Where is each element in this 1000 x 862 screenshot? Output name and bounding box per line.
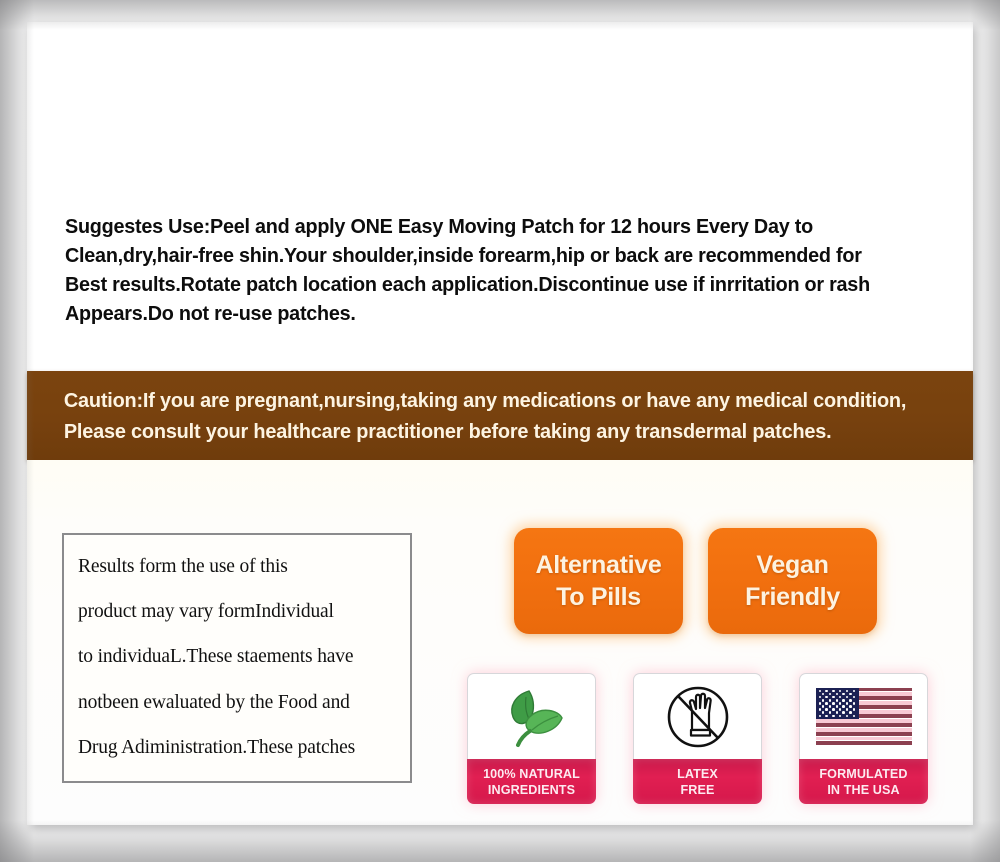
flag-star bbox=[832, 702, 835, 705]
cert-caption-usa: FORMULATED IN THE USA bbox=[799, 759, 928, 804]
flag-star bbox=[839, 702, 842, 705]
disclaimer-ghost-artifact bbox=[74, 733, 394, 773]
caution-line-2: Please consult your healthcare practitio… bbox=[27, 416, 922, 447]
flag-stripe bbox=[816, 723, 912, 727]
flag-star bbox=[822, 693, 825, 696]
product-label-photo: Suggestes Use:Peel and apply ONE Easy Mo… bbox=[0, 0, 1000, 862]
cert-caption-natural-line-1: 100% NATURAL bbox=[483, 766, 580, 782]
flag-star bbox=[839, 690, 842, 693]
flag-star bbox=[819, 690, 822, 693]
flag-stripe bbox=[816, 728, 912, 732]
cert-caption-latex-line-2: FREE bbox=[681, 782, 715, 798]
leaves-icon bbox=[496, 685, 568, 749]
flag-star bbox=[846, 690, 849, 693]
directions-block: Suggestes Use:Peel and apply ONE Easy Mo… bbox=[65, 212, 955, 328]
cert-caption-latex-line-1: LATEX bbox=[677, 766, 718, 782]
flag-star bbox=[849, 705, 852, 708]
cert-badge-natural-ingredients[interactable]: 100% NATURAL INGREDIENTS bbox=[467, 673, 596, 804]
directions-line-1: Suggestes Use:Peel and apply ONE Easy Mo… bbox=[65, 212, 924, 241]
flag-star bbox=[853, 690, 856, 693]
flag-star bbox=[819, 702, 822, 705]
orange-badge-group: Alternative To Pills Vegan Friendly bbox=[514, 528, 877, 634]
flag-star bbox=[825, 715, 828, 718]
cert-caption-latex: LATEX FREE bbox=[633, 759, 762, 804]
flag-star bbox=[842, 711, 845, 714]
directions-line-3: Best results.Rotate patch location each … bbox=[65, 270, 924, 299]
flag-star bbox=[832, 690, 835, 693]
flag-star bbox=[849, 711, 852, 714]
flag-star bbox=[822, 705, 825, 708]
flag-star bbox=[832, 696, 835, 699]
flag-star bbox=[829, 705, 832, 708]
flag-stripe bbox=[816, 732, 912, 736]
cert-badge-latex-free[interactable]: LATEX FREE bbox=[633, 673, 762, 804]
cert-caption-usa-line-2: IN THE USA bbox=[827, 782, 899, 798]
flag-canton bbox=[816, 688, 859, 719]
flag-stripe bbox=[816, 719, 912, 723]
flag-stripe bbox=[816, 741, 912, 745]
flag-star bbox=[853, 715, 856, 718]
flag-star bbox=[825, 708, 828, 711]
cert-caption-natural: 100% NATURAL INGREDIENTS bbox=[467, 759, 596, 804]
directions-line-2: Clean,dry,hair-free shin.Your shoulder,i… bbox=[65, 241, 924, 270]
badge-alternative-to-pills[interactable]: Alternative To Pills bbox=[514, 528, 683, 634]
disclaimer-box: Results form the use of this product may… bbox=[62, 533, 412, 783]
badge-vegan-friendly[interactable]: Vegan Friendly bbox=[708, 528, 877, 634]
flag-star bbox=[825, 690, 828, 693]
badge-alternative-to-pills-line-2: To Pills bbox=[556, 581, 641, 613]
directions-line-4: Appears.Do not re-use patches. bbox=[65, 299, 924, 328]
flag-star bbox=[825, 696, 828, 699]
flag-star bbox=[819, 708, 822, 711]
badge-alternative-to-pills-line-1: Alternative bbox=[536, 549, 662, 581]
cert-icon-container-latex bbox=[633, 673, 762, 759]
label-lower-region: Results form the use of this product may… bbox=[27, 460, 973, 825]
flag-star bbox=[822, 711, 825, 714]
usa-flag-icon bbox=[816, 688, 912, 746]
cert-caption-natural-line-2: INGREDIENTS bbox=[488, 782, 575, 798]
flag-star bbox=[836, 711, 839, 714]
cert-icon-container-usa bbox=[799, 673, 928, 759]
certification-badge-group: 100% NATURAL INGREDIENTS bbox=[467, 673, 928, 804]
disclaimer-line-4: notbeen ewaluated by the Food and bbox=[64, 671, 410, 716]
flag-star bbox=[829, 711, 832, 714]
flag-star bbox=[849, 693, 852, 696]
flag-star bbox=[846, 696, 849, 699]
flag-star bbox=[842, 699, 845, 702]
flag-star bbox=[839, 696, 842, 699]
flag-star bbox=[829, 699, 832, 702]
flag-star bbox=[822, 699, 825, 702]
flag-star bbox=[819, 715, 822, 718]
flag-star bbox=[853, 702, 856, 705]
flag-star bbox=[832, 708, 835, 711]
disclaimer-line-2: product may vary formIndividual bbox=[64, 580, 410, 625]
disclaimer-line-3: to individuaL.These staements have bbox=[64, 625, 410, 670]
flag-star bbox=[842, 705, 845, 708]
cert-badge-formulated-usa[interactable]: FORMULATED IN THE USA bbox=[799, 673, 928, 804]
flag-star bbox=[846, 715, 849, 718]
badge-vegan-friendly-line-1: Vegan bbox=[756, 549, 828, 581]
flag-star bbox=[839, 708, 842, 711]
no-latex-glove-icon bbox=[663, 683, 733, 751]
caution-line-1: Caution:If you are pregnant,nursing,taki… bbox=[27, 385, 922, 416]
flag-star bbox=[836, 699, 839, 702]
flag-stripe bbox=[816, 737, 912, 741]
cert-icon-container-natural bbox=[467, 673, 596, 759]
flag-star bbox=[832, 715, 835, 718]
label-top-blank-area bbox=[27, 22, 973, 208]
flag-star bbox=[853, 708, 856, 711]
flag-star bbox=[819, 696, 822, 699]
badge-vegan-friendly-line-2: Friendly bbox=[745, 581, 840, 613]
flag-star bbox=[839, 715, 842, 718]
flag-star bbox=[842, 693, 845, 696]
flag-star bbox=[846, 708, 849, 711]
disclaimer-line-1: Results form the use of this bbox=[64, 535, 410, 580]
flag-star bbox=[825, 702, 828, 705]
flag-star bbox=[836, 693, 839, 696]
cert-caption-usa-line-1: FORMULATED bbox=[819, 766, 907, 782]
flag-star bbox=[849, 699, 852, 702]
caution-banner: Caution:If you are pregnant,nursing,taki… bbox=[27, 371, 973, 460]
flag-star bbox=[829, 693, 832, 696]
label-panel: Suggestes Use:Peel and apply ONE Easy Mo… bbox=[27, 22, 973, 825]
flag-star bbox=[853, 696, 856, 699]
flag-star bbox=[846, 702, 849, 705]
flag-star bbox=[836, 705, 839, 708]
